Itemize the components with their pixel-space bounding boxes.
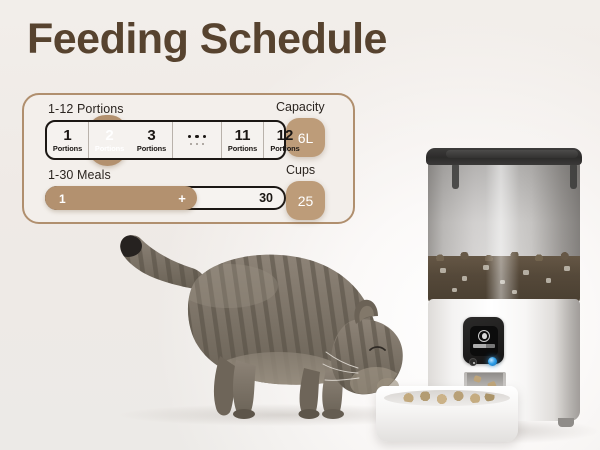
portion-option-12[interactable]: 12 Portions	[264, 122, 306, 158]
portion-option-3[interactable]: 3 Portions	[131, 122, 173, 158]
ellipsis-dots-bottom	[190, 143, 205, 145]
body-shading	[554, 299, 580, 421]
status-led	[488, 357, 497, 366]
capacity-label: Capacity	[276, 100, 325, 114]
power-button[interactable]	[469, 358, 477, 366]
portion-option-11[interactable]: 11 Portions	[222, 122, 264, 158]
portion-unit: Portions	[53, 145, 82, 152]
portions-selector[interactable]: 1 Portions 2 Portions 3 Portions	[45, 120, 286, 160]
portion-unit: Portions	[228, 145, 257, 152]
hopper-hinge-right	[570, 163, 577, 189]
brand-wordmark	[473, 344, 495, 348]
meals-label: 1-30 Meals	[48, 168, 111, 182]
portion-number: 11	[235, 128, 251, 143]
portions-label: 1-12 Portions	[48, 102, 124, 116]
feeder-foot-right	[558, 418, 574, 427]
paw-glyph-icon	[482, 333, 487, 339]
meals-slider[interactable]: 1 + 30	[45, 186, 286, 210]
portion-number: 3	[147, 128, 155, 143]
kibble-in-hopper	[428, 256, 580, 304]
portion-option-2[interactable]: 2 Portions	[89, 122, 131, 158]
cups-label: Cups	[286, 163, 315, 177]
food-hopper	[428, 156, 580, 304]
portion-ellipsis-icon	[173, 122, 222, 158]
hopper-lid[interactable]	[426, 148, 582, 165]
meals-slider-min-value: 1	[59, 192, 66, 206]
portion-unit: Portions	[270, 145, 299, 152]
ellipsis-dots-top	[188, 135, 207, 138]
feeding-bowl	[376, 386, 518, 442]
portion-number: 12	[277, 128, 294, 143]
hopper-hinge-left	[452, 163, 459, 189]
feeding-settings-panel: 1-12 Portions 1 Portions 2 Portions 3 Po…	[22, 93, 355, 224]
promo-image-root: Feeding Schedule 1-12 Portions 1 Portion…	[0, 0, 600, 450]
portion-option-1[interactable]: 1 Portions	[47, 122, 89, 158]
lid-top-surface	[446, 150, 578, 158]
page-title: Feeding Schedule	[27, 18, 387, 61]
portion-number: 1	[63, 128, 71, 143]
portion-unit: Portions	[95, 145, 124, 152]
meals-slider-max-value: 30	[259, 191, 273, 206]
plus-icon[interactable]: +	[175, 192, 189, 206]
portion-unit: Portions	[137, 145, 166, 152]
kibble-in-bowl	[394, 391, 498, 404]
automatic-pet-feeder	[418, 144, 596, 444]
cups-badge: 25	[286, 181, 325, 220]
portion-number: 2	[105, 128, 113, 143]
